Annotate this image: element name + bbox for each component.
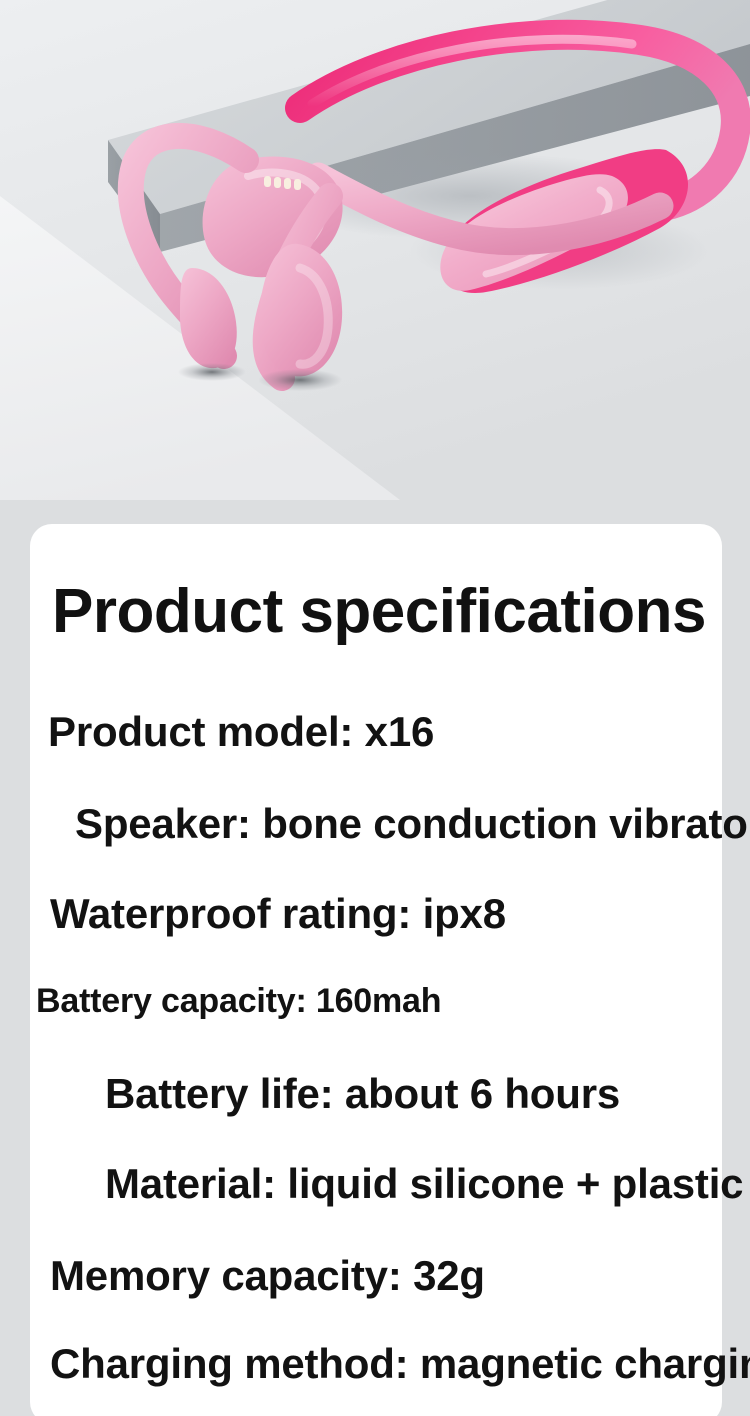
spec-line: Battery life: about 6 hours	[105, 1070, 620, 1118]
spec-line: Memory capacity: 32g	[50, 1252, 485, 1300]
spec-line: Speaker: bone conduction vibrator	[75, 800, 750, 848]
right-contact-shadow	[258, 369, 342, 391]
product-photo	[0, 0, 750, 500]
spec-line: Charging method: magnetic charging	[50, 1340, 750, 1388]
product-detail-page: Product specifications Product model: x1…	[0, 0, 750, 1416]
spec-line: Battery capacity: 160mah	[36, 982, 441, 1021]
page-title: Product specifications	[52, 576, 706, 647]
spec-line: Product model: x16	[48, 708, 434, 756]
spec-line: Material: liquid silicone + plastic	[105, 1160, 743, 1208]
spec-line: Waterproof rating: ipx8	[50, 890, 506, 938]
left-contact-shadow	[178, 363, 246, 381]
